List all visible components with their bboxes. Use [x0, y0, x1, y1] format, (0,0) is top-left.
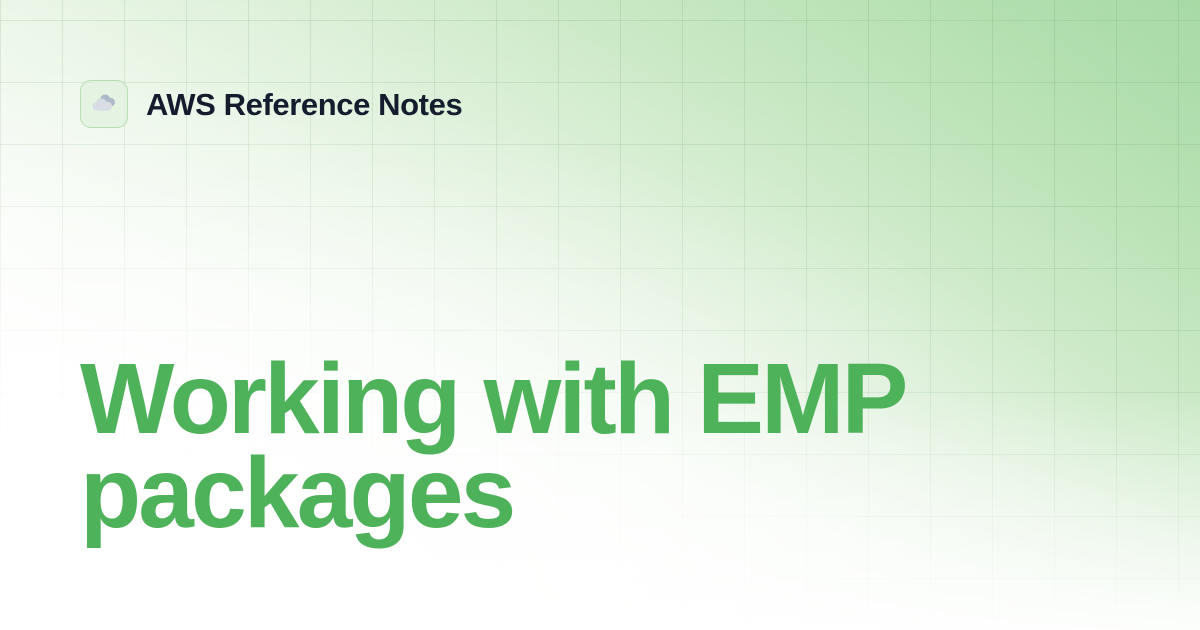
og-card: AWS Reference Notes Working with EMP pac…	[0, 0, 1200, 630]
cloud-icon	[89, 89, 119, 119]
brand-badge	[80, 80, 128, 128]
brand-title: AWS Reference Notes	[146, 89, 462, 120]
brand-lockup: AWS Reference Notes	[80, 80, 462, 128]
card-content: AWS Reference Notes Working with EMP pac…	[0, 0, 1200, 630]
page-title: Working with EMP packages	[80, 352, 980, 540]
